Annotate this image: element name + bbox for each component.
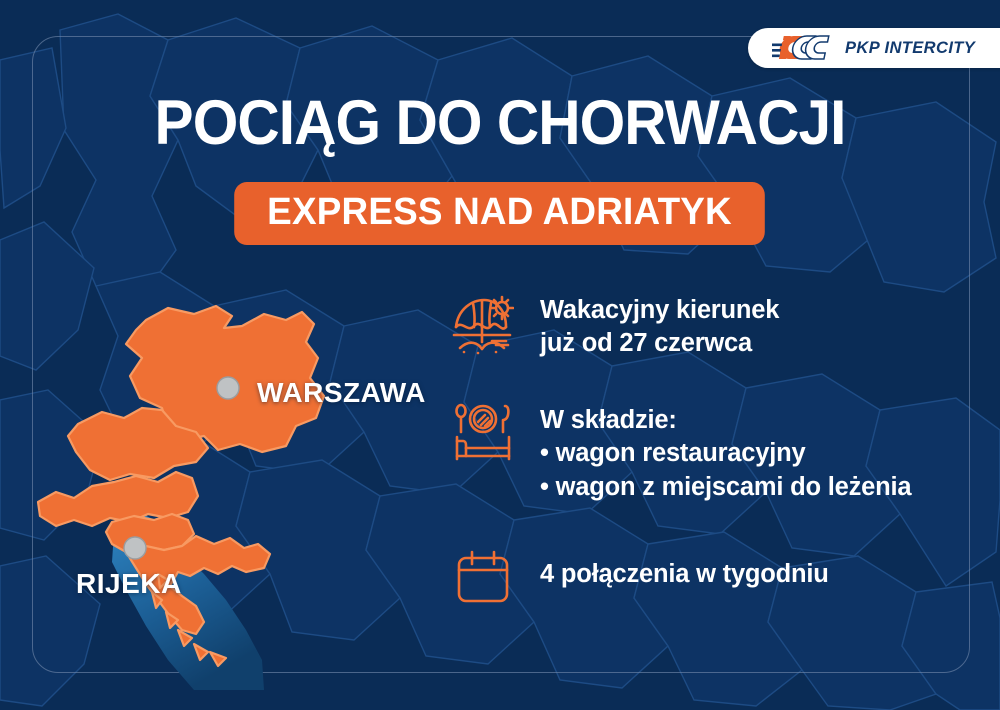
- city-label-rijeka: RIJEKA: [76, 568, 182, 600]
- page-title: POCIĄG DO CHORWACJI: [35, 92, 965, 155]
- feature-text-seasonal: Wakacyjny kierunek już od 27 czerwca: [540, 290, 779, 360]
- brand-name: PKP INTERCITY: [845, 39, 975, 58]
- calendar-icon: [448, 542, 518, 612]
- pkp-intercity-logo[interactable]: PKP INTERCITY: [748, 28, 1000, 68]
- pkp-intercity-logo-icon: [772, 35, 834, 61]
- feature-list: Wakacyjny kierunek już od 27 czerwca: [448, 290, 968, 612]
- dining-bed-icon: [448, 400, 518, 470]
- subtitle-banner: EXPRESS NAD ADRIATYK: [235, 182, 766, 245]
- feature-line: już od 27 czerwca: [540, 327, 779, 360]
- route-map: [18, 300, 488, 690]
- beach-umbrella-sun-icon: [448, 290, 518, 360]
- feature-line: • wagon restauracyjny: [540, 437, 911, 470]
- feature-line: Wakacyjny kierunek: [540, 294, 779, 327]
- feature-text-consist: W składzie: • wagon restauracyjny • wago…: [540, 400, 911, 503]
- feature-line: • wagon z miejscami do leżenia: [540, 471, 911, 504]
- city-label-warszawa: WARSZAWA: [257, 377, 426, 409]
- city-dot-warszawa: [217, 377, 239, 399]
- subtitle-banner-wrap: EXPRESS NAD ADRIATYK: [0, 182, 1000, 245]
- feature-item-seasonal: Wakacyjny kierunek już od 27 czerwca: [448, 290, 968, 360]
- feature-line: 4 połączenia w tygodniu: [540, 558, 829, 591]
- poster-canvas: PKP INTERCITY POCIĄG DO CHORWACJI EXPRES…: [0, 0, 1000, 710]
- feature-item-frequency: 4 połączenia w tygodniu: [448, 542, 968, 612]
- city-dot-rijeka: [124, 537, 146, 559]
- feature-text-frequency: 4 połączenia w tygodniu: [540, 542, 829, 591]
- feature-item-consist: W składzie: • wagon restauracyjny • wago…: [448, 400, 968, 503]
- feature-line: W składzie:: [540, 404, 911, 437]
